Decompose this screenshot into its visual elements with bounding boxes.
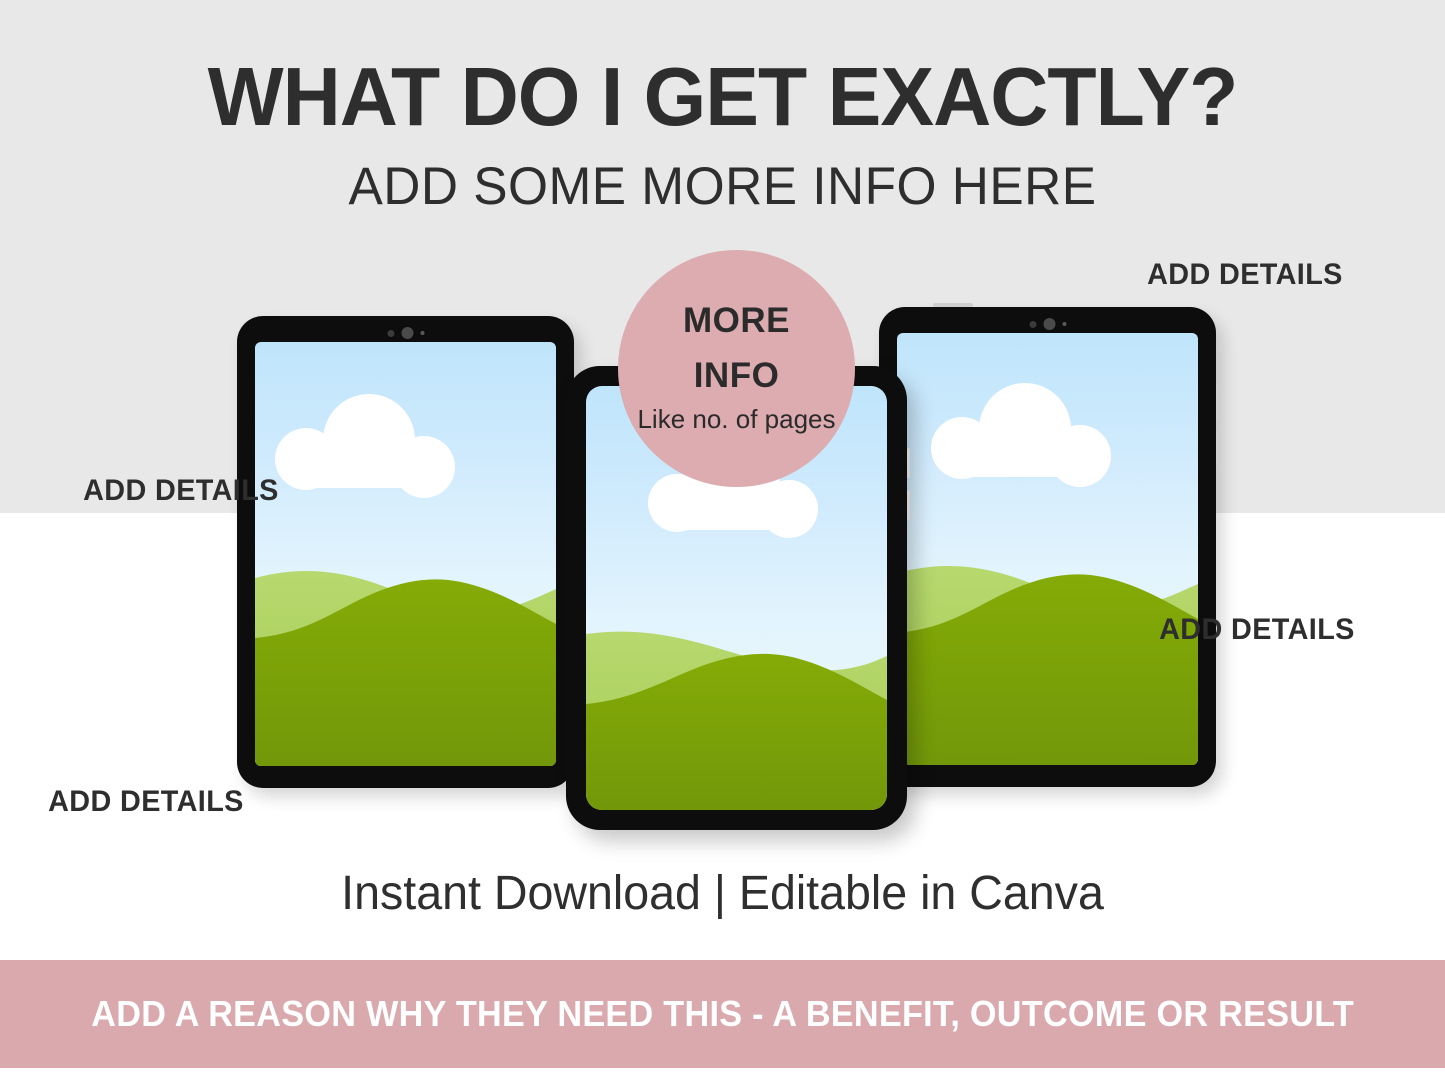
volume-button <box>907 448 910 478</box>
badge-line-3: Like no. of pages <box>637 405 835 434</box>
tagline: Instant Download | Editable in Canva <box>22 866 1424 921</box>
device-right-tablet <box>879 307 1216 787</box>
top-button <box>933 303 973 307</box>
page-title: WHAT DO I GET EXACTLY? <box>22 55 1424 138</box>
device-right-screen <box>897 333 1198 765</box>
page-subtitle: ADD SOME MORE INFO HERE <box>22 160 1424 213</box>
cloud-icon <box>931 383 1111 473</box>
bottom-banner-text: ADD A REASON WHY THEY NEED THIS - A BENE… <box>91 993 1354 1035</box>
device-left-tablet <box>237 316 574 788</box>
front-camera-icon <box>1029 318 1066 330</box>
device-left-screen <box>255 342 556 766</box>
badge-line-1: MORE <box>683 303 790 338</box>
detail-label-mid-right: ADD DETAILS <box>1159 613 1355 647</box>
poster-canvas: WHAT DO I GET EXACTLY? ADD SOME MORE INF… <box>0 0 1445 1084</box>
more-info-badge[interactable]: MORE INFO Like no. of pages <box>618 250 855 487</box>
cloud-icon <box>275 394 455 484</box>
front-camera-icon <box>387 327 424 339</box>
bottom-banner: ADD A REASON WHY THEY NEED THIS - A BENE… <box>0 960 1445 1068</box>
badge-line-2: INFO <box>694 358 780 393</box>
detail-label-top-right: ADD DETAILS <box>1147 258 1343 292</box>
power-button <box>907 490 910 520</box>
power-button <box>1216 431 1219 465</box>
detail-label-bottom-left: ADD DETAILS <box>48 785 244 819</box>
volume-button <box>1216 385 1219 419</box>
detail-label-left: ADD DETAILS <box>83 474 279 508</box>
